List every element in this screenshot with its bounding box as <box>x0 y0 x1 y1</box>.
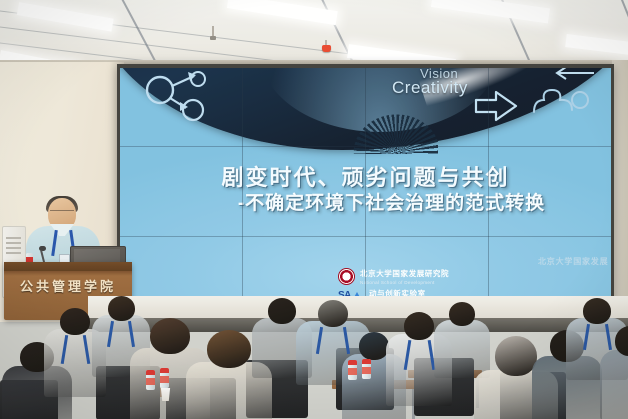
video-wall-frame: Vision Creativity 剧变时代、顽劣问题与共创 -不确定环境下社会… <box>117 64 614 312</box>
pku-logo-cn: 北京大学国家发展研究院 <box>360 268 449 279</box>
person-head <box>359 332 389 360</box>
wall-right <box>612 60 628 310</box>
video-wall-seam-horizontal <box>120 236 611 237</box>
video-wall-seam-horizontal <box>120 146 611 147</box>
person-head <box>449 302 475 326</box>
person-head <box>404 312 434 340</box>
bottle-cap <box>348 360 357 365</box>
lecture-hall-photo: Vision Creativity 剧变时代、顽劣问题与共创 -不确定环境下社会… <box>0 0 628 419</box>
person-head <box>207 330 251 368</box>
person-body <box>600 350 628 419</box>
bottle-cap <box>146 370 155 375</box>
audience-area <box>0 296 628 419</box>
bottle-label <box>160 376 169 383</box>
bottle-label <box>146 378 155 385</box>
slide-watermark-right: 北京大学国家发展 <box>538 256 608 267</box>
person-head <box>268 298 296 324</box>
podium-top-edge <box>4 262 132 271</box>
water-bottle <box>160 368 169 388</box>
bottle-cap <box>362 359 371 364</box>
ceiling-hanger <box>212 26 214 40</box>
bottle-cap <box>160 368 169 373</box>
pku-seal-icon <box>338 268 355 285</box>
pku-logo-en: National School of Development <box>360 280 449 285</box>
video-wall-screen[interactable]: Vision Creativity 剧变时代、顽劣问题与共创 -不确定环境下社会… <box>120 68 611 309</box>
person-head <box>150 318 190 354</box>
water-bottle <box>146 370 155 390</box>
audience-person <box>600 326 628 419</box>
ceiling-light-panel <box>17 2 114 31</box>
speaker-glasses <box>50 210 74 217</box>
water-bottle <box>348 360 357 380</box>
ceiling-light-panel <box>431 0 550 23</box>
person-head <box>318 300 348 327</box>
fire-sprinkler-icon <box>322 45 331 52</box>
person-head <box>60 308 90 335</box>
video-wall-seam-vertical <box>365 68 366 309</box>
person-head <box>495 336 537 376</box>
video-wall-seam-vertical <box>488 68 489 309</box>
water-bottle <box>362 359 371 379</box>
video-wall-seam-vertical <box>242 68 243 309</box>
bottle-label <box>362 367 371 374</box>
person-head <box>583 298 611 324</box>
pku-nsd-logo: 北京大学国家发展研究院 National School of Developme… <box>338 268 449 285</box>
ceiling-light-panel <box>227 0 338 25</box>
ceiling-light-panel <box>565 34 628 55</box>
bottle-label <box>348 368 357 375</box>
slide-word-creativity: Creativity <box>392 78 468 98</box>
podium-sign-text: 公共管理学院 <box>4 276 132 295</box>
